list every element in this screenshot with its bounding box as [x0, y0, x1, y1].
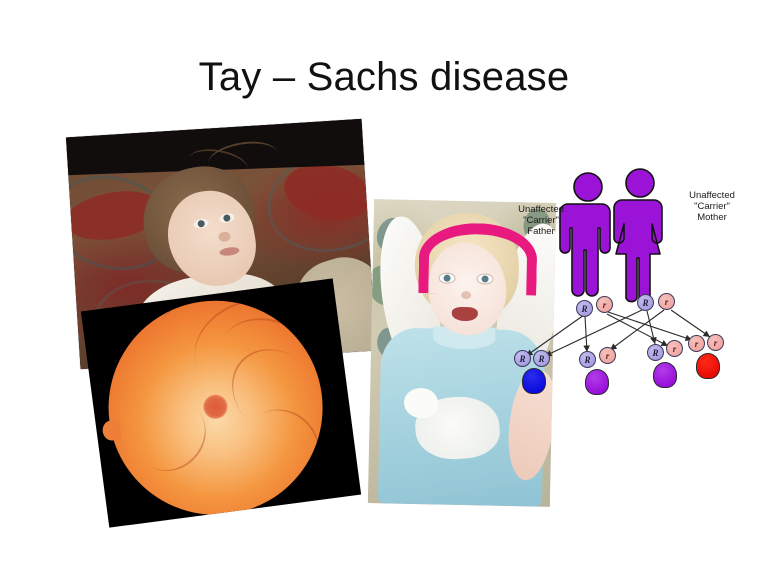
- shirt-animal-print-head: [404, 388, 439, 419]
- mother-label: Unaffected "Carrier" Mother: [672, 190, 752, 223]
- child-eye: [438, 272, 455, 283]
- mother-figure-icon: [614, 169, 662, 302]
- retina-fundus-photo: [81, 278, 361, 527]
- child-nose: [461, 291, 471, 299]
- child-1-allele-1: R: [514, 350, 531, 367]
- page-title: Tay – Sachs disease: [0, 55, 768, 100]
- child-4-body: [696, 353, 720, 379]
- inheritance-pedigree-diagram: Unaffected "Carrier" Father Unaffected "…: [500, 160, 768, 400]
- child-2-allele-2: r: [599, 347, 616, 364]
- mother-allele-2: r: [658, 293, 675, 310]
- slide-canvas: Tay – Sachs disease: [0, 0, 768, 576]
- child-4-allele-1: r: [688, 335, 705, 352]
- child-2-body: [585, 369, 609, 395]
- child-3-allele-1: R: [647, 344, 664, 361]
- father-allele-1: R: [576, 300, 593, 317]
- father-allele-2: r: [596, 296, 613, 313]
- child-3-body: [653, 362, 677, 388]
- child-mouth: [452, 307, 478, 322]
- child-2-allele-1: R: [579, 351, 596, 368]
- child-4-allele-2: r: [707, 334, 724, 351]
- father-label: Unaffected "Carrier" Father: [504, 204, 578, 237]
- child-3-allele-2: r: [666, 340, 683, 357]
- child-1-body: [522, 368, 546, 394]
- child-eye: [476, 273, 493, 284]
- mother-allele-1: R: [637, 294, 654, 311]
- child-1-allele-2: R: [533, 350, 550, 367]
